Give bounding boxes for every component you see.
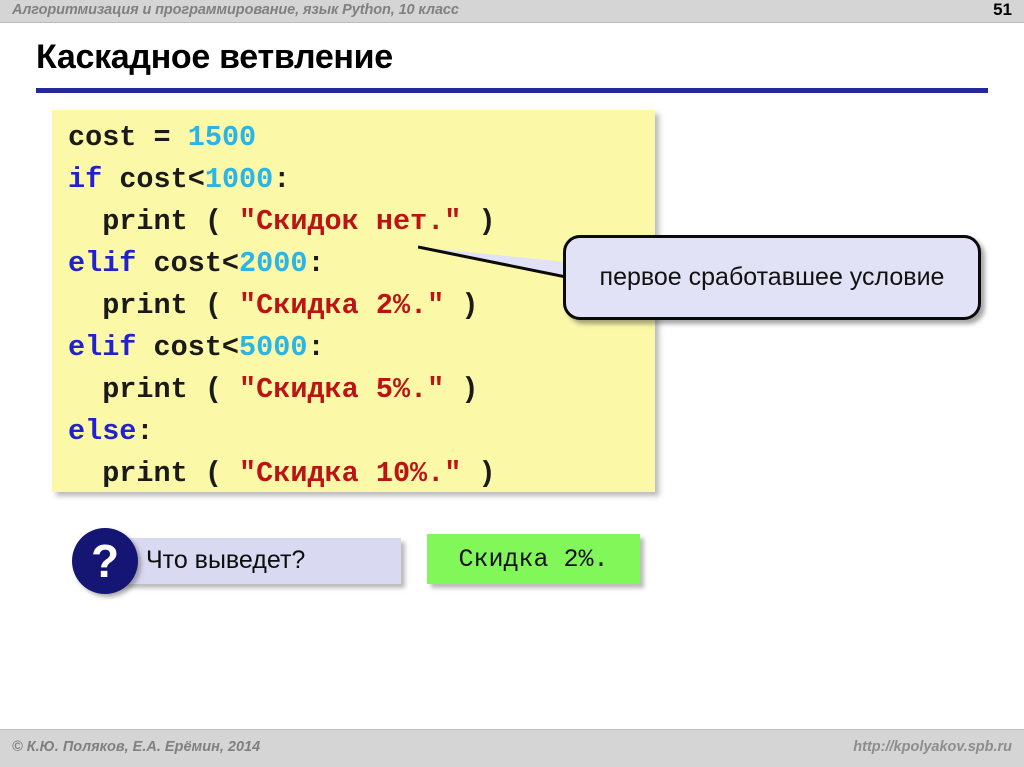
code-token-plain: print ( — [68, 205, 239, 238]
code-token-string: "Скидка 2%." — [239, 289, 444, 322]
page-number: 51 — [993, 0, 1012, 20]
code-token-keyword: elif — [68, 247, 136, 280]
code-token-number: 1500 — [188, 121, 256, 154]
question-mark-icon: ? — [72, 528, 138, 594]
code-token-plain: ) — [444, 289, 478, 322]
code-token-plain: cost< — [102, 163, 205, 196]
code-token-plain: ) — [444, 373, 478, 406]
code-token-string: "Скидка 5%." — [239, 373, 444, 406]
website-url[interactable]: http://kpolyakov.spb.ru — [853, 739, 1012, 755]
answer-output-text: Скидка 2%. — [427, 534, 640, 584]
code-token-number: 1000 — [205, 163, 273, 196]
code-line: if cost<1000: — [68, 159, 496, 201]
code-token-plain: : — [307, 331, 324, 364]
code-token-keyword: elif — [68, 331, 136, 364]
slide-header-bar: Алгоритмизация и программирование, язык … — [0, 0, 1024, 23]
question-mark-badge: ? — [72, 528, 138, 594]
code-token-string: "Скидка 10%." — [239, 457, 461, 490]
code-token-plain: print ( — [68, 457, 239, 490]
callout-label: первое сработавшее условие — [582, 262, 963, 293]
code-token-number: 2000 — [239, 247, 307, 280]
code-listing: cost = 1500if cost<1000: print ( "Скидок… — [68, 117, 496, 495]
slide-footer-bar: © К.Ю. Поляков, Е.А. Ерёмин, 2014 http:/… — [0, 729, 1024, 767]
answer-box: Скидка 2%. — [427, 534, 640, 584]
code-token-plain: : — [273, 163, 290, 196]
code-token-string: "Скидок нет." — [239, 205, 461, 238]
code-token-keyword: else — [68, 415, 136, 448]
code-line: print ( "Скидка 5%." ) — [68, 369, 496, 411]
code-line: print ( "Скидка 2%." ) — [68, 285, 496, 327]
code-token-keyword: if — [68, 163, 102, 196]
code-token-plain: : — [307, 247, 324, 280]
code-token-plain: cost = — [68, 121, 188, 154]
code-line: elif cost<5000: — [68, 327, 496, 369]
callout-bubble: первое сработавшее условие — [563, 235, 981, 320]
code-token-plain: cost< — [136, 247, 239, 280]
code-token-plain: print ( — [68, 289, 239, 322]
code-token-plain: print ( — [68, 373, 239, 406]
code-line: cost = 1500 — [68, 117, 496, 159]
course-title: Алгоритмизация и программирование, язык … — [12, 2, 459, 18]
code-line: print ( "Скидок нет." ) — [68, 201, 496, 243]
code-line: print ( "Скидка 10%." ) — [68, 453, 496, 495]
code-token-plain: ) — [461, 205, 495, 238]
code-token-plain: ) — [461, 457, 495, 490]
code-token-plain: : — [136, 415, 153, 448]
code-token-number: 5000 — [239, 331, 307, 364]
copyright-text: © К.Ю. Поляков, Е.А. Ерёмин, 2014 — [12, 739, 260, 755]
question-prompt: Что выведет? — [146, 546, 305, 575]
question-box: Что выведет? — [104, 538, 401, 584]
code-line: else: — [68, 411, 496, 453]
title-underline-rule — [36, 88, 988, 93]
callout-pointer — [418, 243, 578, 281]
code-token-plain: cost< — [136, 331, 239, 364]
page-title: Каскадное ветвление — [36, 38, 393, 77]
